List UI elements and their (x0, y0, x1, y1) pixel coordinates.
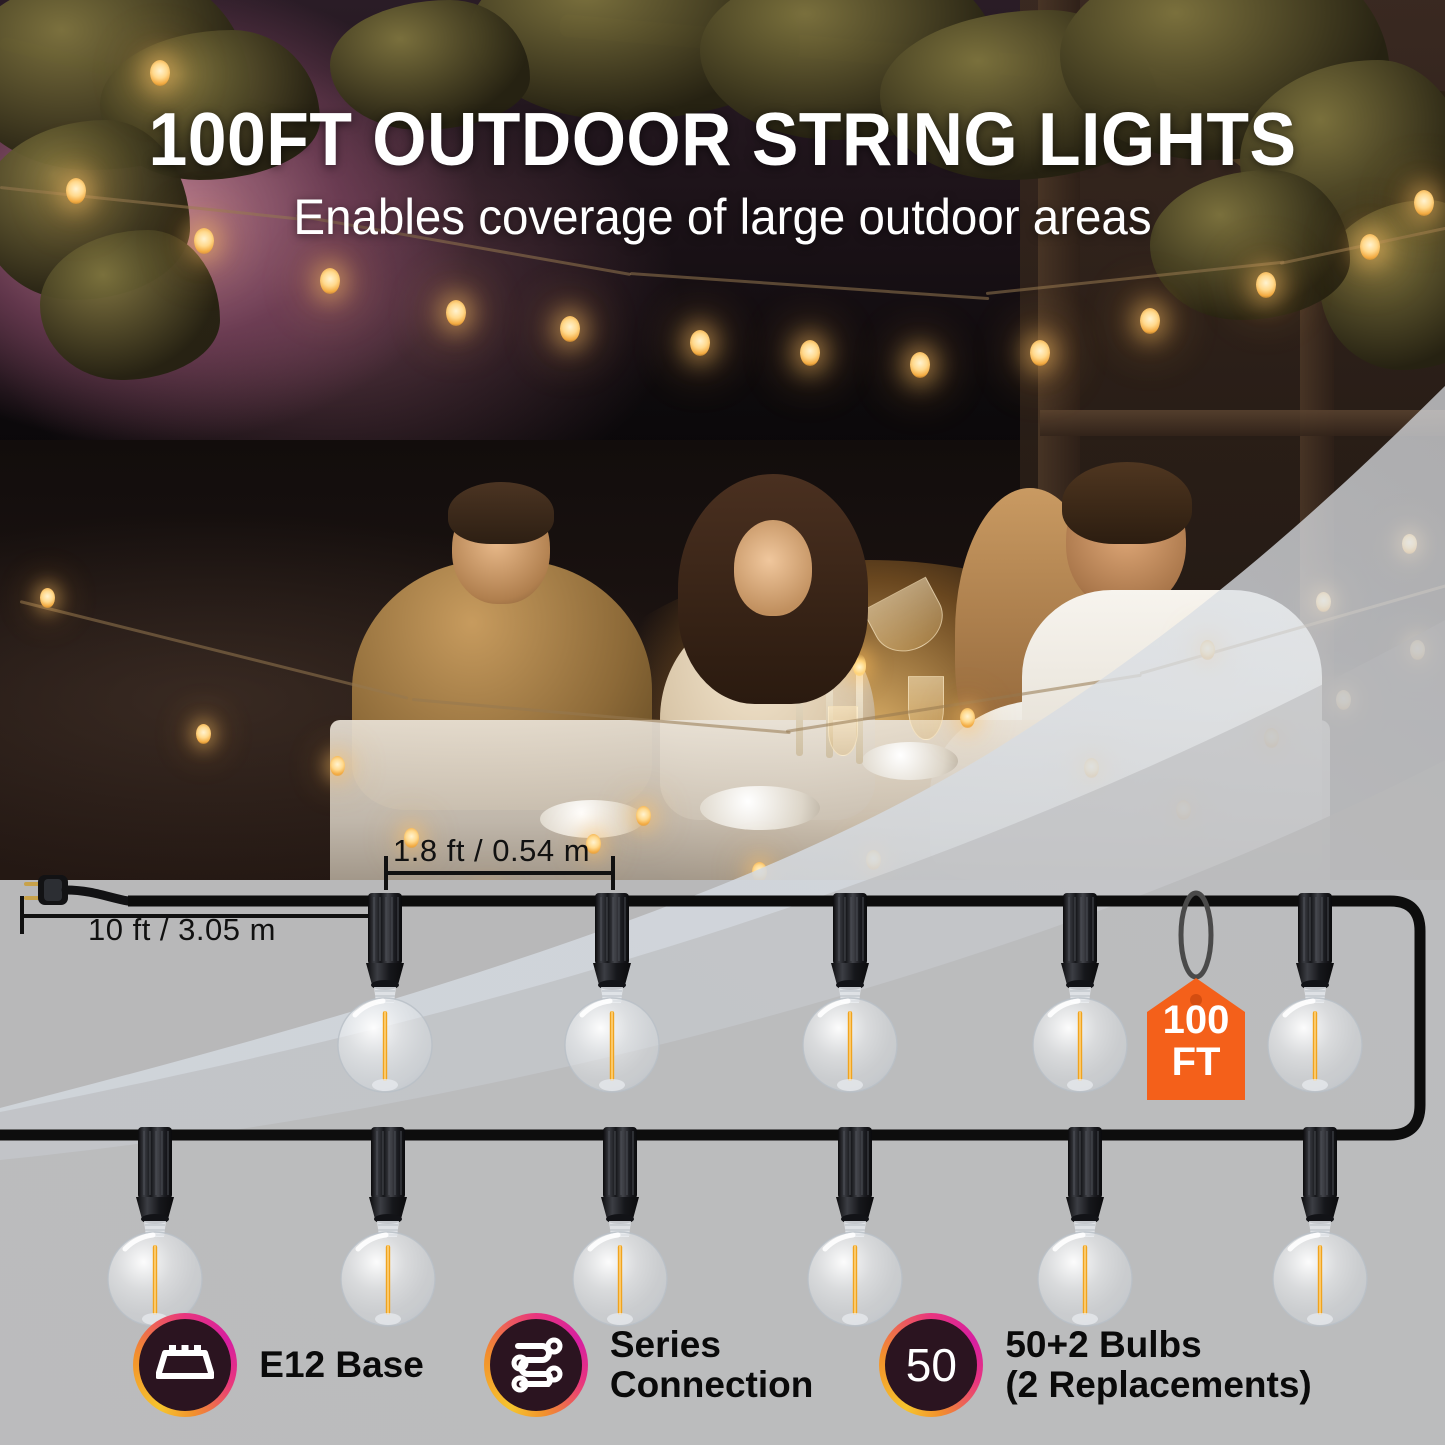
badge-label-line: Connection (610, 1365, 813, 1405)
person-man-right-hair (1062, 462, 1192, 544)
person-woman-center-face (734, 520, 812, 616)
badge-label: 50+2 Bulbs (2 Replacements) (1005, 1325, 1311, 1405)
plate (862, 742, 958, 780)
house-beam (1040, 410, 1445, 436)
series-connection-icon (508, 1336, 564, 1394)
badge-disc (490, 1319, 582, 1411)
badge-ring: 50 (879, 1313, 983, 1417)
person-man-left-hair (448, 482, 554, 544)
bulb-top-1 (338, 893, 432, 1092)
hang-tag-line2: FT (1147, 1042, 1245, 1084)
badge-series-connection[interactable]: Series Connection (484, 1313, 813, 1417)
badge-bulb-count[interactable]: 50 50+2 Bulbs (2 Replacements) (879, 1313, 1311, 1417)
bulb-bottom-5 (1038, 1127, 1132, 1326)
badge-label-line: E12 Base (259, 1345, 424, 1385)
bulb-top-3 (803, 893, 897, 1092)
bulb-bottom-1 (108, 1127, 202, 1326)
badge-label-line: 50+2 Bulbs (1005, 1325, 1311, 1365)
e12-base-icon (156, 1342, 214, 1388)
badge-label: E12 Base (259, 1345, 424, 1385)
bulb-bottom-4 (808, 1127, 902, 1326)
feature-badges: E12 Base Series (0, 1300, 1445, 1430)
badge-disc: 50 (885, 1319, 977, 1411)
hang-tag-line1: 100 (1147, 1000, 1245, 1042)
bulb-bottom-2 (341, 1127, 435, 1326)
badge-label: Series Connection (610, 1325, 813, 1405)
bulb-top-2 (565, 893, 659, 1092)
bulb-spacing-label: 1.8 ft / 0.54 m (393, 833, 590, 869)
bulb-bottom-3 (573, 1127, 667, 1326)
badge-label-line: Series (610, 1325, 813, 1365)
bulb-top-4 (1033, 893, 1127, 1092)
badge-ring (484, 1313, 588, 1417)
page-title: 100FT OUTDOOR STRING LIGHTS (51, 96, 1395, 182)
page-subtitle: Enables coverage of large outdoor areas (36, 188, 1409, 246)
badge-ring (133, 1313, 237, 1417)
badge-label-line: (2 Replacements) (1005, 1365, 1311, 1405)
lead-length-label: 10 ft / 3.05 m (88, 912, 276, 948)
plate (700, 786, 820, 830)
badge-e12-base[interactable]: E12 Base (133, 1313, 424, 1417)
badge-disc (139, 1319, 231, 1411)
product-infographic: 100FT OUTDOOR STRING LIGHTS Enables cove… (0, 0, 1445, 1445)
bulb-top-5 (1268, 893, 1362, 1092)
bulb-count-icon: 50 (906, 1342, 957, 1388)
wine-glass (828, 706, 858, 756)
hang-tag-text: 100 FT (1147, 1000, 1245, 1083)
bulb-bottom-6 (1273, 1127, 1367, 1326)
